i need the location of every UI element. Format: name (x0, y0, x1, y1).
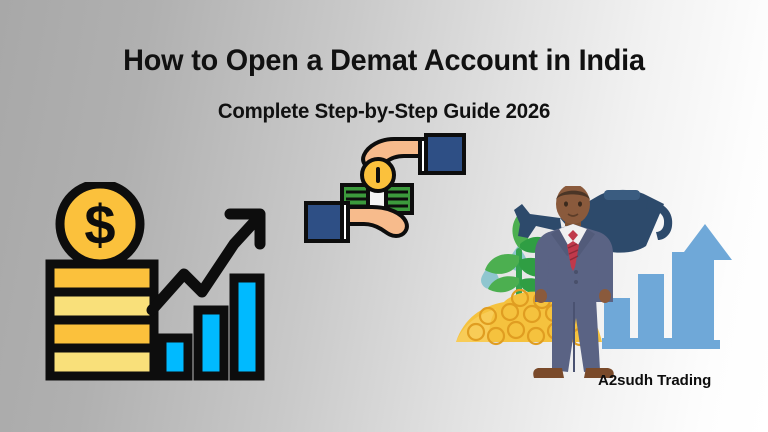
investment-growth-svg (452, 186, 732, 386)
money-exchange-icon (300, 133, 470, 253)
blog-banner: How to Open a Demat Account in India Com… (0, 0, 768, 432)
money-exchange-svg (300, 133, 470, 248)
brand-watermark: A2sudh Trading (598, 372, 711, 389)
page-subtitle: Complete Step-by-Step Guide 2026 (12, 100, 757, 124)
page-title: How to Open a Demat Account in India (15, 44, 752, 78)
svg-text:$: $ (84, 193, 115, 256)
investment-growth-illustration (452, 186, 732, 391)
coin-stack-growth-icon: $ (44, 182, 284, 387)
coin-stack-growth-svg: $ (44, 182, 284, 382)
